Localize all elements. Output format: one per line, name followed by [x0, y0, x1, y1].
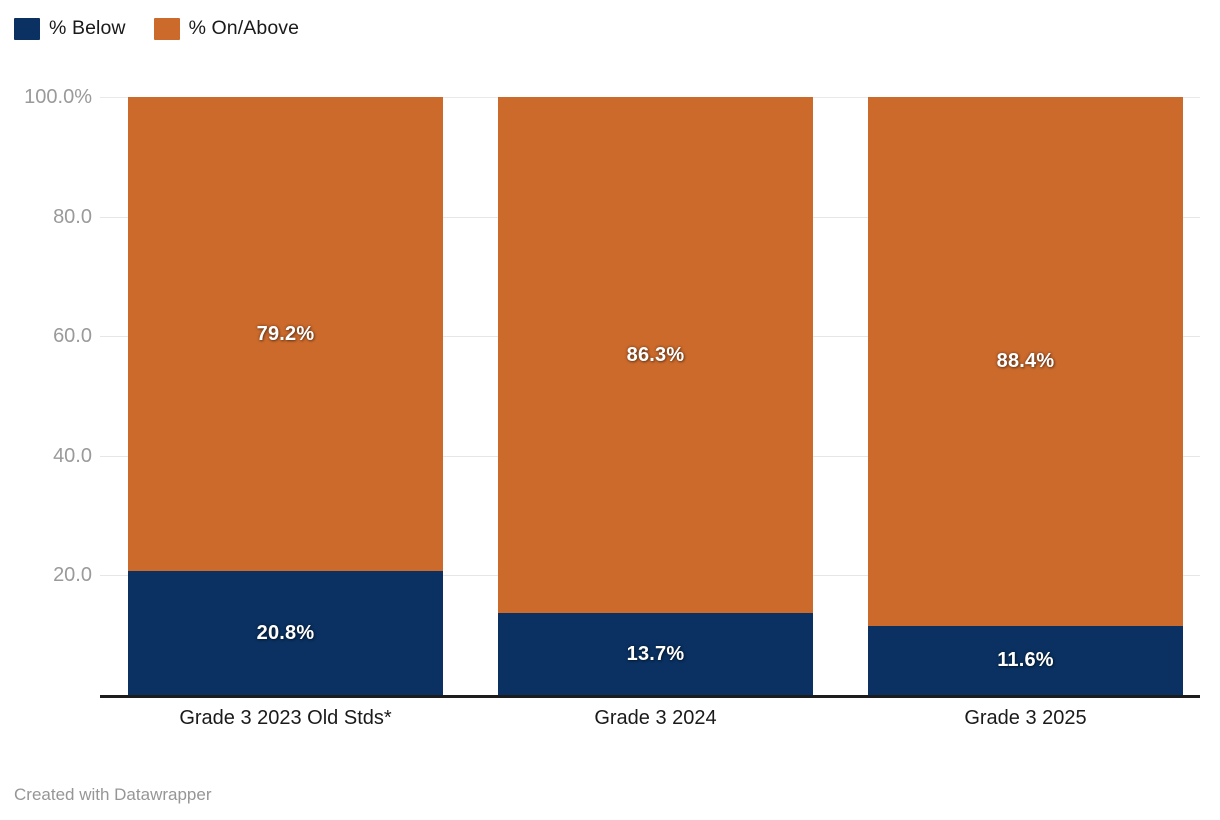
y-axis-label-80: 80.0	[53, 207, 92, 227]
bar-segment-below[interactable]: 13.7%	[498, 613, 813, 695]
bar-value-label-below: 11.6%	[997, 650, 1054, 670]
bar-group: 79.2%20.8%	[128, 97, 443, 695]
datawrapper-credit[interactable]: Created with Datawrapper	[14, 786, 211, 803]
bar-value-label-below: 13.7%	[627, 644, 685, 664]
x-axis-label: Grade 3 2025	[868, 708, 1183, 728]
bar-value-label-on-above: 88.4%	[997, 351, 1055, 371]
chart-container: % Below % On/Above 100.0%80.060.040.020.…	[0, 0, 1220, 820]
x-axis-label: Grade 3 2024	[498, 708, 813, 728]
y-axis-label-20: 20.0	[53, 565, 92, 585]
bar-value-label-below: 20.8%	[257, 623, 315, 643]
x-axis-label: Grade 3 2023 Old Stds*	[128, 708, 443, 728]
bar-value-label-on-above: 86.3%	[627, 345, 685, 365]
bar-segment-below[interactable]: 11.6%	[868, 626, 1183, 695]
bar-group: 86.3%13.7%	[498, 97, 813, 695]
y-axis-label-100: 100.0%	[24, 87, 92, 107]
bar-segment-on-above[interactable]: 88.4%	[868, 97, 1183, 626]
bar-group: 88.4%11.6%	[868, 97, 1183, 695]
plot-area: 100.0%80.060.040.020.0 79.2%20.8%86.3%13…	[0, 0, 1220, 820]
x-axis-baseline	[100, 695, 1200, 698]
bar-segment-on-above[interactable]: 79.2%	[128, 97, 443, 571]
bar-value-label-on-above: 79.2%	[257, 324, 315, 344]
bar-segment-below[interactable]: 20.8%	[128, 571, 443, 695]
y-axis-label-60: 60.0	[53, 326, 92, 346]
bar-segment-on-above[interactable]: 86.3%	[498, 97, 813, 613]
y-axis-label-40: 40.0	[53, 446, 92, 466]
